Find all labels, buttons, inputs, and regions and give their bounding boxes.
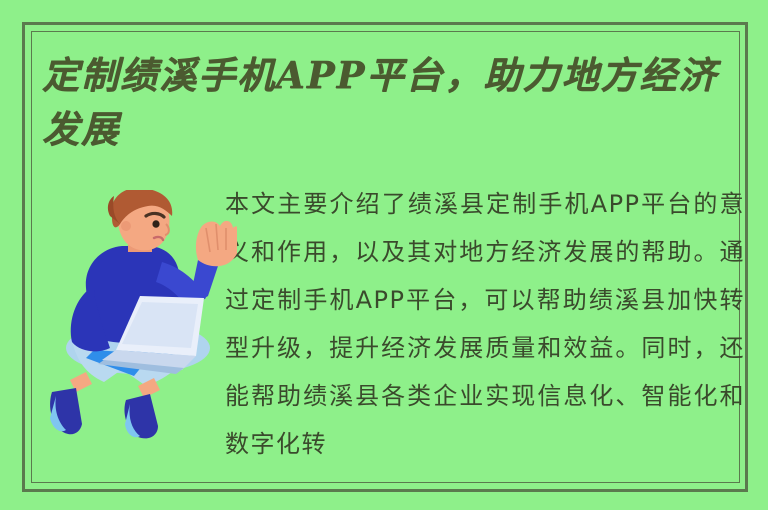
illustration-svg (42, 190, 237, 440)
article-body-text: 本文主要介绍了绩溪县定制手机APP平台的意义和作用，以及其对地方经济发展的帮助。… (225, 180, 745, 480)
ear-shape (121, 221, 131, 231)
page-title: 定制绩溪手机APP平台，助力地方经济发展 (42, 48, 742, 156)
poster-canvas: 定制绩溪手机APP平台，助力地方经济发展 本文主要介绍了绩溪县定制手机APP平台… (0, 0, 768, 510)
illustration-person-with-laptop (42, 190, 237, 440)
eye-shape (152, 220, 159, 228)
